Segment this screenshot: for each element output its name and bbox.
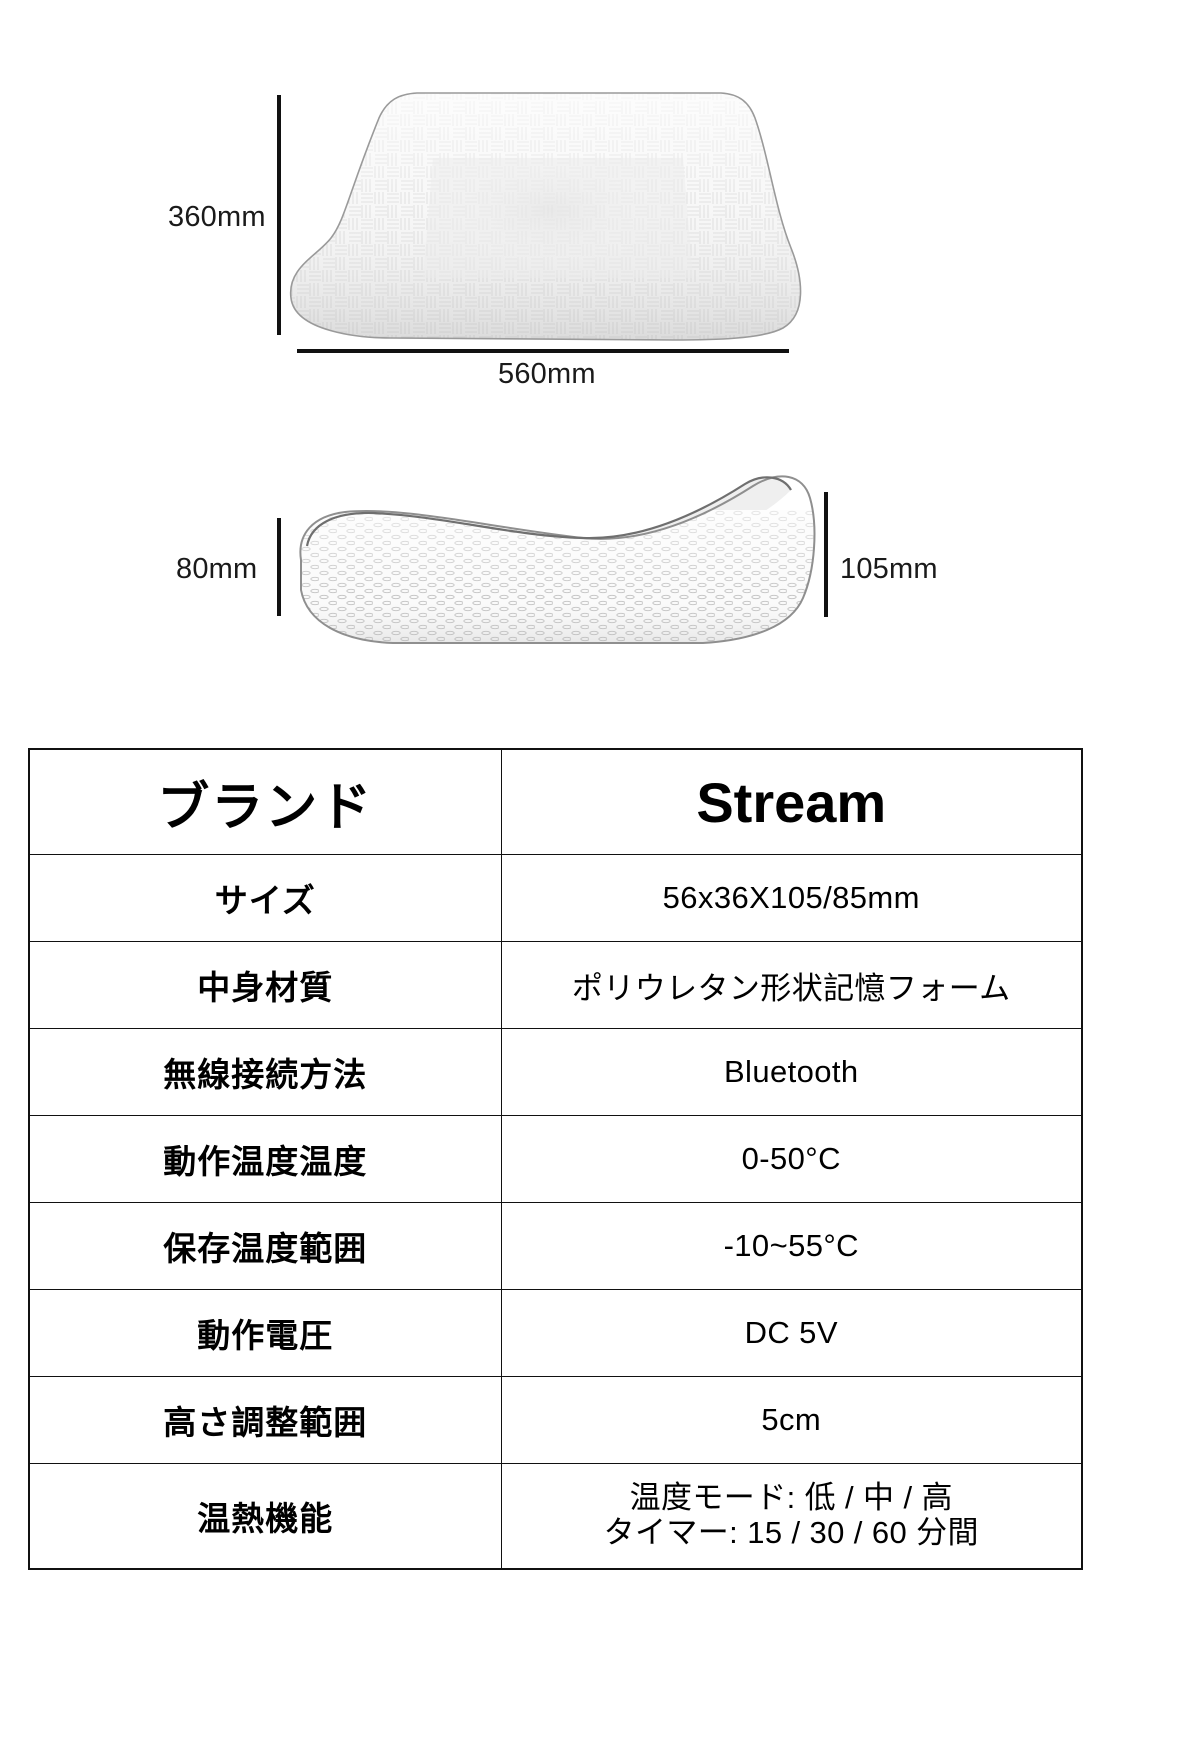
table-row: サイズ 56x36X105/85mm [29, 855, 1082, 942]
table-row: 動作電圧 DC 5V [29, 1290, 1082, 1377]
measure-rule-side-left-height [277, 518, 281, 616]
pillow-front-view-svg [283, 88, 813, 343]
measure-label-side-right-height: 105mm [840, 553, 938, 586]
specification-table-wrapper: ブランド Stream サイズ 56x36X105/85mm 中身材質 ポリウレ… [28, 748, 1081, 1570]
spec-label-material: 中身材質 [29, 942, 501, 1029]
specification-table: ブランド Stream サイズ 56x36X105/85mm 中身材質 ポリウレ… [28, 748, 1083, 1570]
heating-timer-options: タイマー: 15 / 30 / 60 分間 [604, 1516, 979, 1551]
table-row: 高さ調整範囲 5cm [29, 1377, 1082, 1464]
spec-label-heating-function: 温熱機能 [29, 1464, 501, 1570]
table-row: 動作温度温度 0-50°C [29, 1116, 1082, 1203]
spec-label-storage-temperature: 保存温度範囲 [29, 1203, 501, 1290]
product-illustration-area: 360mm 560mm 80mm 105mm [0, 0, 1200, 700]
measure-rule-front-height [277, 95, 281, 335]
measure-label-side-left-height: 80mm [176, 553, 257, 586]
spec-label-size: サイズ [29, 855, 501, 942]
spec-value-brand: Stream [501, 749, 1082, 855]
pillow-side-view-svg [283, 450, 828, 655]
spec-label-height-adjustment: 高さ調整範囲 [29, 1377, 501, 1464]
measure-label-front-height: 360mm [168, 201, 266, 234]
spec-value-operating-temperature: 0-50°C [501, 1116, 1082, 1203]
heating-temperature-modes: 温度モード: 低 / 中 / 高 [630, 1481, 953, 1516]
spec-value-wireless: Bluetooth [501, 1029, 1082, 1116]
spec-label-voltage: 動作電圧 [29, 1290, 501, 1377]
spec-label-brand: ブランド [29, 749, 501, 855]
spec-value-voltage: DC 5V [501, 1290, 1082, 1377]
spec-value-size: 56x36X105/85mm [501, 855, 1082, 942]
heating-function-lines: 温度モード: 低 / 中 / 高 タイマー: 15 / 30 / 60 分間 [508, 1481, 1076, 1550]
spec-label-wireless: 無線接続方法 [29, 1029, 501, 1116]
table-row: 保存温度範囲 -10~55°C [29, 1203, 1082, 1290]
measure-label-front-width: 560mm [498, 358, 596, 391]
pillow-side-view [283, 450, 828, 655]
table-row: 中身材質 ポリウレタン形状記憶フォーム [29, 942, 1082, 1029]
spec-value-height-adjustment: 5cm [501, 1377, 1082, 1464]
measure-rule-front-width [297, 349, 789, 353]
table-row: ブランド Stream [29, 749, 1082, 855]
pillow-front-view [283, 88, 813, 343]
spec-value-heating-function: 温度モード: 低 / 中 / 高 タイマー: 15 / 30 / 60 分間 [501, 1464, 1082, 1570]
spec-value-material: ポリウレタン形状記憶フォーム [501, 942, 1082, 1029]
spec-label-operating-temperature: 動作温度温度 [29, 1116, 501, 1203]
table-row: 温熱機能 温度モード: 低 / 中 / 高 タイマー: 15 / 30 / 60… [29, 1464, 1082, 1570]
table-row: 無線接続方法 Bluetooth [29, 1029, 1082, 1116]
spec-value-storage-temperature: -10~55°C [501, 1203, 1082, 1290]
measure-rule-side-right-height [824, 492, 828, 617]
